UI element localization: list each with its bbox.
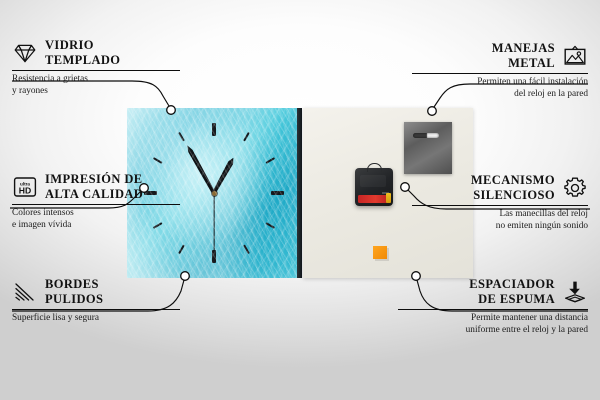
foam-spacer-icon [562, 279, 588, 305]
feature-espaciador-espuma: ESPACIADOR DE ESPUMA Permite mantener un… [398, 277, 588, 336]
quartz-mechanism [355, 168, 393, 206]
feature-title: IMPRESIÓN DE ALTA CALIDAD [45, 172, 143, 202]
foam-spacer-pad [373, 246, 387, 259]
feature-title-line2: METAL [492, 56, 555, 71]
feature-desc-line1: Permite mantener una distancia [398, 313, 588, 324]
ultra-hd-icon: ultra HD [12, 174, 38, 200]
battery-terminal [386, 193, 391, 203]
picture-hanger-icon [562, 43, 588, 69]
feature-heading-row: MANEJAS METAL [412, 41, 588, 71]
feature-description: Superficie lisa y segura [12, 310, 180, 324]
feature-title-line2: SILENCIOSO [471, 188, 555, 203]
metal-hanger-plate [404, 122, 452, 174]
feature-title: ESPACIADOR DE ESPUMA [469, 277, 555, 307]
clock-center-hub [212, 191, 217, 196]
feature-vidrio-templado: VIDRIO TEMPLADO Resistencia a grietas y … [12, 38, 180, 97]
feature-desc-line1: Superficie lisa y segura [12, 313, 180, 324]
feature-title: MECANISMO SILENCIOSO [471, 173, 555, 203]
feature-desc-line2: e imagen vívida [12, 220, 180, 231]
feature-title-line1: MANEJAS [492, 41, 555, 55]
feature-desc-line2: no emiten ningún sonido [412, 221, 588, 232]
gear-icon [562, 175, 588, 201]
mechanism-panel-detail [360, 175, 386, 187]
battery [358, 195, 390, 203]
feature-description: Las manecillas del reloj no emiten ningú… [412, 206, 588, 232]
feature-title-line1: MECANISMO [471, 173, 555, 187]
infographic-canvas: VIDRIO TEMPLADO Resistencia a grietas y … [0, 0, 600, 400]
second-hand [213, 193, 214, 255]
minute-hand [185, 144, 216, 195]
feature-title-line1: BORDES [45, 277, 99, 291]
feature-manejas-metal: MANEJAS METAL Permiten una fácil instala… [412, 41, 588, 100]
feature-title-line1: VIDRIO [45, 38, 94, 52]
feature-description: Colores intensos e imagen vívida [12, 205, 180, 231]
glass-edge [297, 108, 302, 278]
feature-mecanismo-silencioso: MECANISMO SILENCIOSO Las manecillas del … [412, 173, 588, 232]
feature-desc-line2: del reloj en la pared [412, 89, 588, 100]
feature-heading-row: BORDES PULIDOS [12, 277, 180, 307]
feature-heading-row: VIDRIO TEMPLADO [12, 38, 180, 68]
feature-desc-line1: Resistencia a grietas [12, 74, 180, 85]
feature-title-line2: PULIDOS [45, 292, 103, 307]
polished-edges-icon [12, 279, 38, 305]
svg-text:HD: HD [19, 185, 31, 195]
feature-description: Permiten una fácil instalación del reloj… [412, 74, 588, 100]
feature-heading-row: ultra HD IMPRESIÓN DE ALTA CALIDAD [12, 172, 180, 202]
feature-desc-line1: Las manecillas del reloj [412, 209, 588, 220]
mechanism-loop [367, 163, 382, 172]
feature-heading-row: ESPACIADOR DE ESPUMA [398, 277, 588, 307]
feature-desc-line1: Colores intensos [12, 208, 180, 219]
feature-title-line2: DE ESPUMA [469, 292, 555, 307]
feature-title-line1: IMPRESIÓN DE [45, 172, 143, 186]
feature-title-line2: ALTA CALIDAD [45, 187, 143, 202]
hour-hand [212, 157, 236, 195]
feature-title: MANEJAS METAL [492, 41, 555, 71]
feature-title: VIDRIO TEMPLADO [45, 38, 120, 68]
feature-title: BORDES PULIDOS [45, 277, 103, 307]
feature-title-line1: ESPACIADOR [469, 277, 555, 291]
feature-heading-row: MECANISMO SILENCIOSO [412, 173, 588, 203]
feature-description: Permite mantener una distancia uniforme … [398, 310, 588, 336]
feature-impresion-alta-calidad: ultra HD IMPRESIÓN DE ALTA CALIDAD Color… [12, 172, 180, 231]
feature-desc-line2: uniforme entre el reloj y la pared [398, 325, 588, 336]
feature-desc-line2: y rayones [12, 86, 180, 97]
feature-title-line2: TEMPLADO [45, 53, 120, 68]
diamond-icon [12, 40, 38, 66]
feature-desc-line1: Permiten una fácil instalación [412, 77, 588, 88]
feature-bordes-pulidos: BORDES PULIDOS Superficie lisa y segura [12, 277, 180, 325]
hanger-slot [413, 133, 439, 138]
feature-description: Resistencia a grietas y rayones [12, 71, 180, 97]
